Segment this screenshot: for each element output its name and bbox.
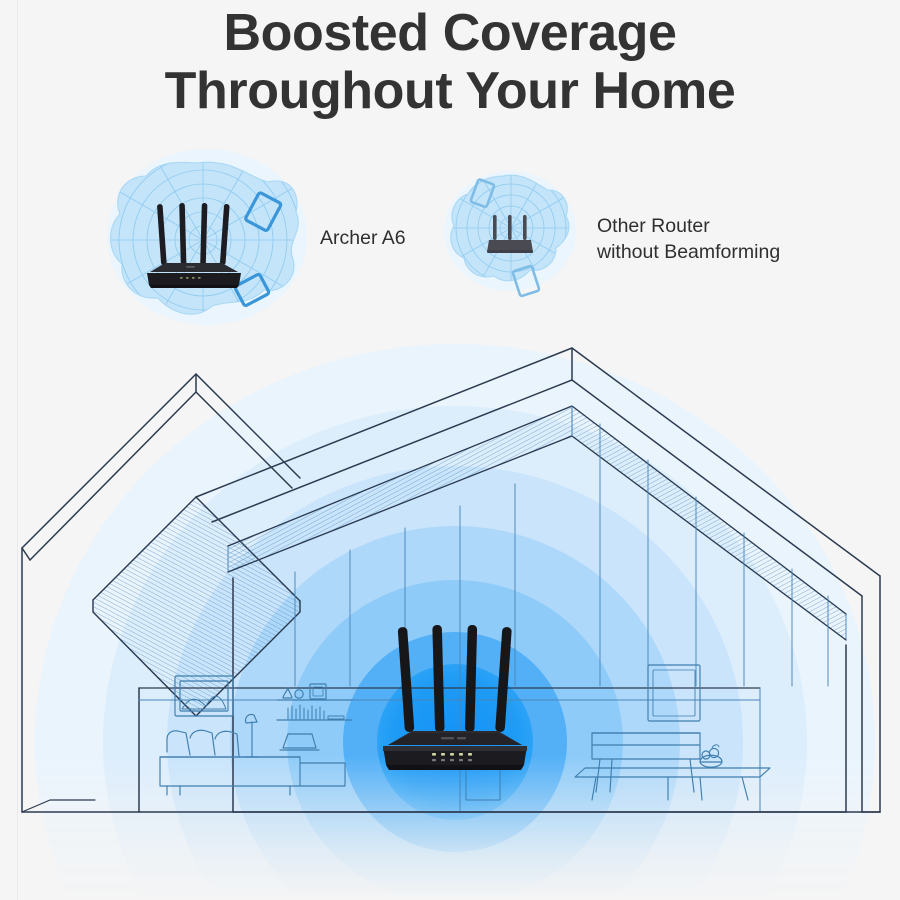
comparison-diagram bbox=[0, 0, 900, 900]
coverage-infographic: Boosted Coverage Throughout Your Home Ar… bbox=[0, 0, 900, 900]
background-seam bbox=[17, 0, 18, 900]
archer-a6-label: Archer A6 bbox=[320, 225, 406, 251]
archer-a6-coverage-blob bbox=[93, 130, 313, 350]
other-router-label: Other Router without Beamforming bbox=[597, 213, 780, 266]
generic-router-icon bbox=[487, 215, 533, 253]
other-router-coverage-blob bbox=[435, 152, 587, 304]
